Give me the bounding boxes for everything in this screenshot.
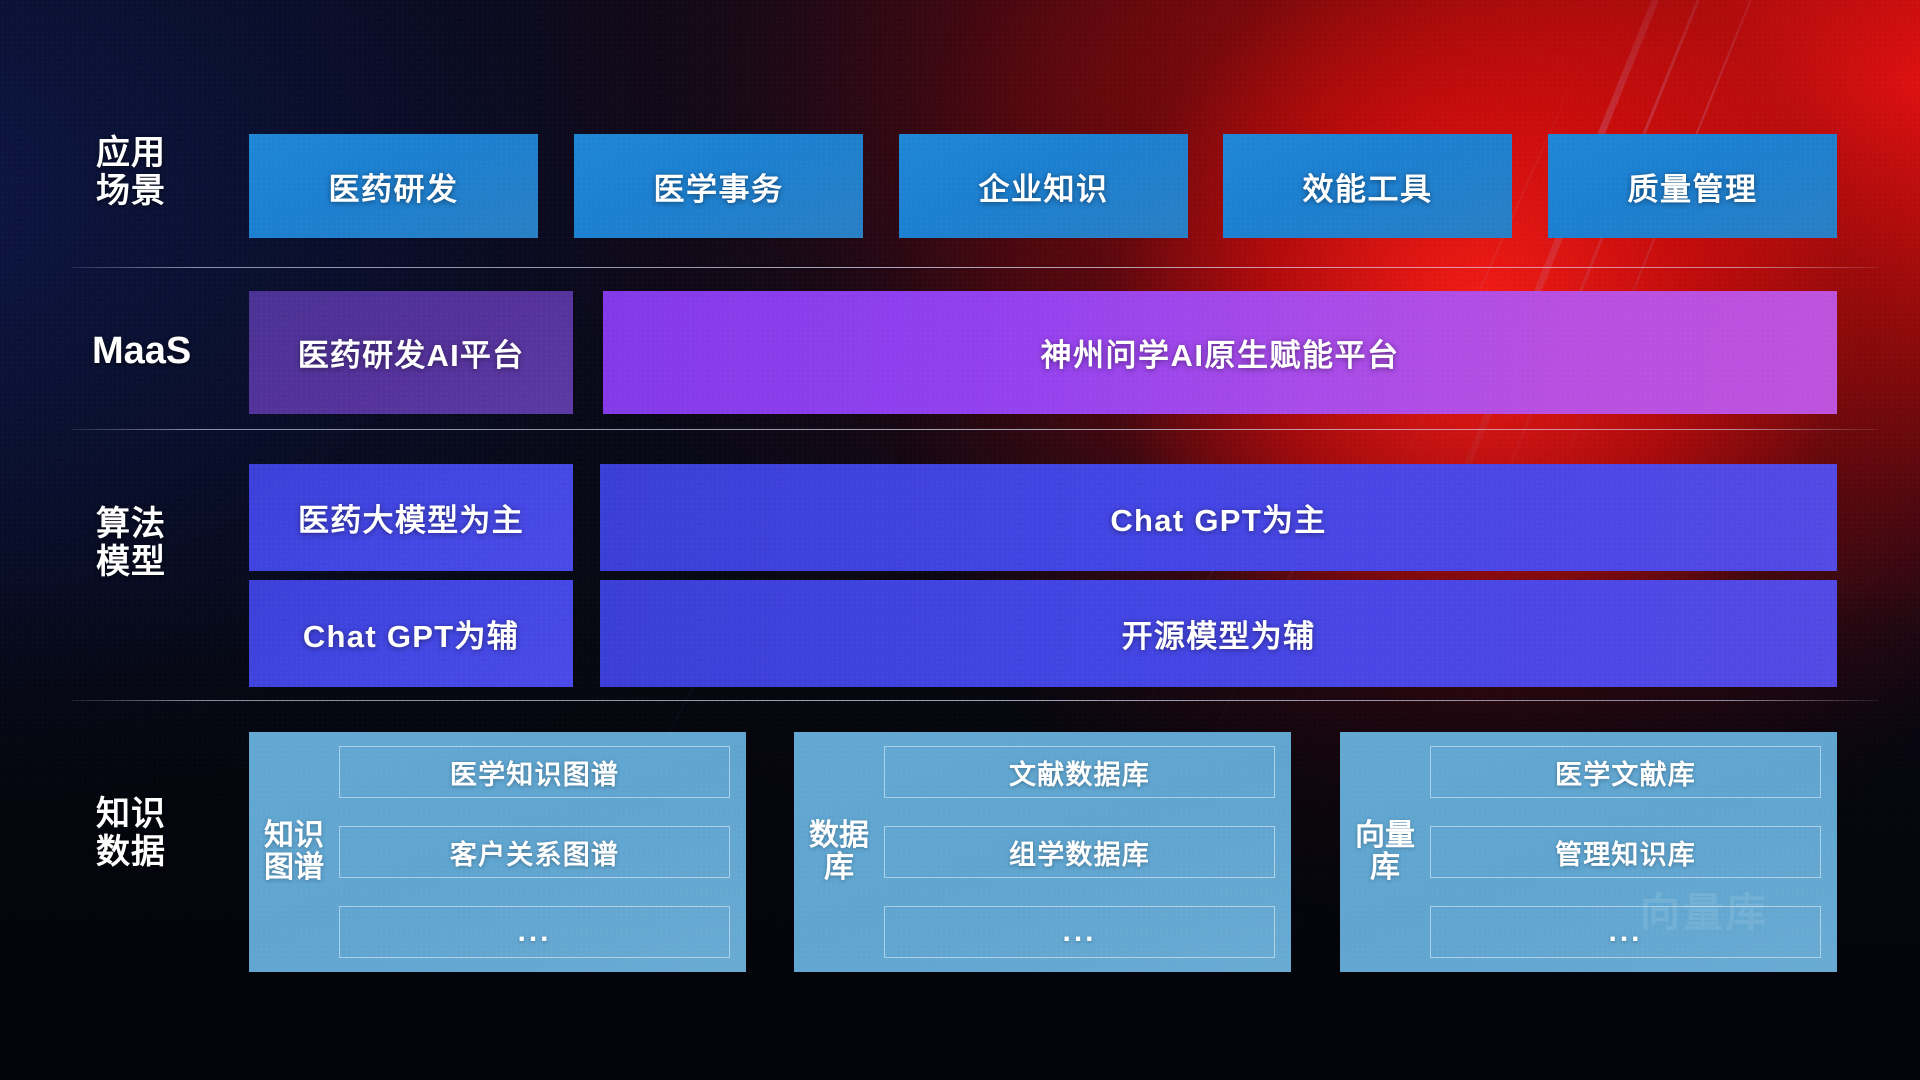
knowledge-panel-vector-title: 向量库 — [1354, 820, 1416, 885]
knowledge-panel-graph-items: 医学知识图谱 客户关系图谱 ... — [339, 746, 730, 958]
knowledge-item-medical-graph[interactable]: 医学知识图谱 — [339, 746, 730, 798]
maas-box-drug-rd-ai-platform[interactable]: 医药研发AI平台 — [249, 291, 573, 414]
maas-box-shenzhou-wenxue-platform[interactable]: 神州问学AI原生赋能平台 — [603, 291, 1837, 414]
knowledge-panel-vector-items: 医学文献库 管理知识库 ... — [1430, 746, 1821, 958]
row-label-algorithm: 算法 模型 — [96, 505, 226, 581]
knowledge-item-customer-graph[interactable]: 客户关系图谱 — [339, 826, 730, 878]
algo-box-chatgpt-primary[interactable]: Chat GPT为主 — [600, 464, 1837, 571]
knowledge-item-omics-db[interactable]: 组学数据库 — [884, 826, 1275, 878]
slide-canvas: 应用 场景 医药研发 医学事务 企业知识 效能工具 质量管理 MaaS 医药研发… — [0, 0, 1920, 1080]
algo-box-pharma-llm-primary[interactable]: 医药大模型为主 — [249, 464, 573, 571]
algo-box-opensource-secondary[interactable]: 开源模型为辅 — [600, 580, 1837, 687]
app-box-enterprise-knowledge-label: 企业知识 — [979, 164, 1109, 209]
divider-algorithm-knowledge — [72, 700, 1878, 701]
diagram-content: 应用 场景 医药研发 医学事务 企业知识 效能工具 质量管理 MaaS 医药研发… — [0, 0, 1920, 1080]
knowledge-panel-database-items: 文献数据库 组学数据库 ... — [884, 746, 1275, 958]
app-box-drug-rd-label: 医药研发 — [329, 164, 459, 209]
app-box-efficiency-tools[interactable]: 效能工具 — [1223, 134, 1512, 238]
knowledge-item-vector-more[interactable]: ... — [1430, 906, 1821, 958]
app-box-enterprise-knowledge[interactable]: 企业知识 — [899, 134, 1188, 238]
app-box-medical-affairs[interactable]: 医学事务 — [574, 134, 863, 238]
divider-maas-algorithm — [72, 429, 1878, 430]
row-label-knowledge: 知识 数据 — [96, 795, 226, 871]
maas-box-drug-rd-ai-platform-label: 医药研发AI平台 — [298, 330, 525, 375]
algo-box-chatgpt-secondary-label: Chat GPT为辅 — [303, 611, 519, 656]
maas-box-shenzhou-wenxue-platform-label: 神州问学AI原生赋能平台 — [1041, 330, 1400, 375]
algo-box-chatgpt-primary-label: Chat GPT为主 — [1110, 495, 1326, 540]
knowledge-panel-graph-title: 知识图谱 — [263, 820, 325, 885]
row-label-maas: MaaS — [92, 330, 242, 373]
app-box-quality-management-label: 质量管理 — [1628, 164, 1758, 209]
row-label-application: 应用 场景 — [96, 134, 226, 210]
divider-application-maas — [72, 267, 1878, 268]
app-box-quality-management[interactable]: 质量管理 — [1548, 134, 1837, 238]
knowledge-panel-database[interactable]: 数据库 文献数据库 组学数据库 ... — [794, 732, 1291, 972]
knowledge-item-graph-more[interactable]: ... — [339, 906, 730, 958]
knowledge-item-management-knowledge[interactable]: 管理知识库 — [1430, 826, 1821, 878]
algo-box-pharma-llm-primary-label: 医药大模型为主 — [298, 495, 524, 540]
knowledge-panel-graph[interactable]: 知识图谱 医学知识图谱 客户关系图谱 ... — [249, 732, 746, 972]
algo-box-chatgpt-secondary[interactable]: Chat GPT为辅 — [249, 580, 573, 687]
knowledge-item-database-more[interactable]: ... — [884, 906, 1275, 958]
app-box-drug-rd[interactable]: 医药研发 — [249, 134, 538, 238]
app-box-medical-affairs-label: 医学事务 — [654, 164, 784, 209]
app-box-efficiency-tools-label: 效能工具 — [1303, 164, 1433, 209]
knowledge-item-literature-db[interactable]: 文献数据库 — [884, 746, 1275, 798]
knowledge-item-medical-literature[interactable]: 医学文献库 — [1430, 746, 1821, 798]
algo-box-opensource-secondary-label: 开源模型为辅 — [1122, 611, 1316, 656]
knowledge-panel-database-title: 数据库 — [808, 820, 870, 885]
knowledge-panel-vector[interactable]: 向量库 医学文献库 管理知识库 ... 向量库 — [1340, 732, 1837, 972]
